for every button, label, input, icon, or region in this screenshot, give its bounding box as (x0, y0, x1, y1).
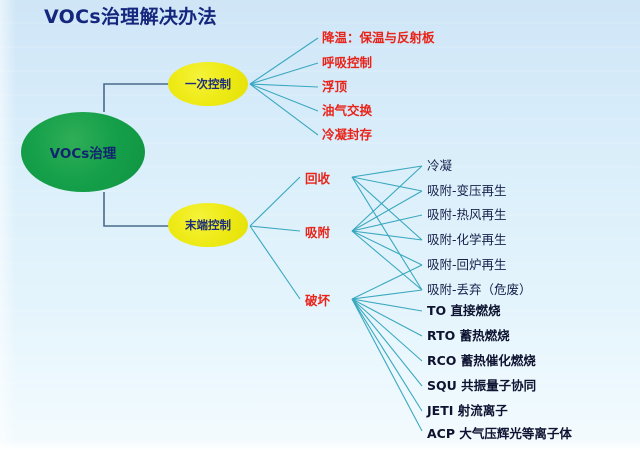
slide-canvas: VOCs治理解决办法 VOCs治理 一次控制 末端控制 降温：保温与反射板 呼吸… (0, 0, 640, 450)
elbow-connector-terminal (104, 192, 172, 226)
leaf-primary-3: 浮顶 (322, 81, 347, 94)
category-destruction[interactable]: 破坏 (305, 290, 330, 309)
leaf-primary-4: 油气交换 (322, 105, 372, 118)
node-root-label: VOCs治理 (50, 142, 117, 162)
leaf-primary-2: 呼吸控制 (322, 57, 372, 70)
fan-terminal-control (250, 177, 300, 299)
leaf-primary-5: 冷凝封存 (322, 129, 372, 142)
leaf-destruction-2: RTO 蓄热燃烧 (427, 330, 510, 343)
node-root-vocs[interactable]: VOCs治理 (21, 112, 145, 192)
leaf-terminal-5: 吸附-回炉再生 (427, 259, 507, 272)
node-terminal-control[interactable]: 末端控制 (168, 203, 248, 247)
leaf-destruction-6: ACP 大气压辉光等离子体 (427, 428, 572, 441)
leaf-primary-1: 降温：保温与反射板 (322, 32, 435, 45)
leaf-destruction-4: SQU 共振量子协同 (427, 380, 536, 393)
node-primary-control-label: 一次控制 (185, 76, 231, 92)
node-primary-control[interactable]: 一次控制 (168, 62, 248, 106)
category-adsorption[interactable]: 吸附 (305, 222, 330, 241)
leaf-terminal-1: 冷凝 (427, 160, 452, 173)
leaf-terminal-2: 吸附-变压再生 (427, 185, 507, 198)
fan-adsorption (352, 166, 422, 290)
leaf-terminal-3: 吸附-热风再生 (427, 209, 507, 222)
fan-primary-control (250, 38, 318, 135)
page-title: VOCs治理解决办法 (44, 2, 217, 29)
leaf-destruction-5: JETI 射流离子 (427, 405, 508, 418)
elbow-connector-primary (104, 84, 172, 112)
fan-destruction (352, 265, 422, 431)
leaf-destruction-3: RCO 蓄热催化燃烧 (427, 355, 536, 368)
leaf-terminal-4: 吸附-化学再生 (427, 234, 507, 247)
fan-recovery (352, 166, 422, 290)
node-terminal-control-label: 末端控制 (185, 217, 231, 233)
category-recovery[interactable]: 回收 (305, 168, 330, 187)
leaf-destruction-1: TO 直接燃烧 (427, 305, 501, 318)
leaf-terminal-6: 吸附-丢弃（危废） (427, 284, 532, 297)
